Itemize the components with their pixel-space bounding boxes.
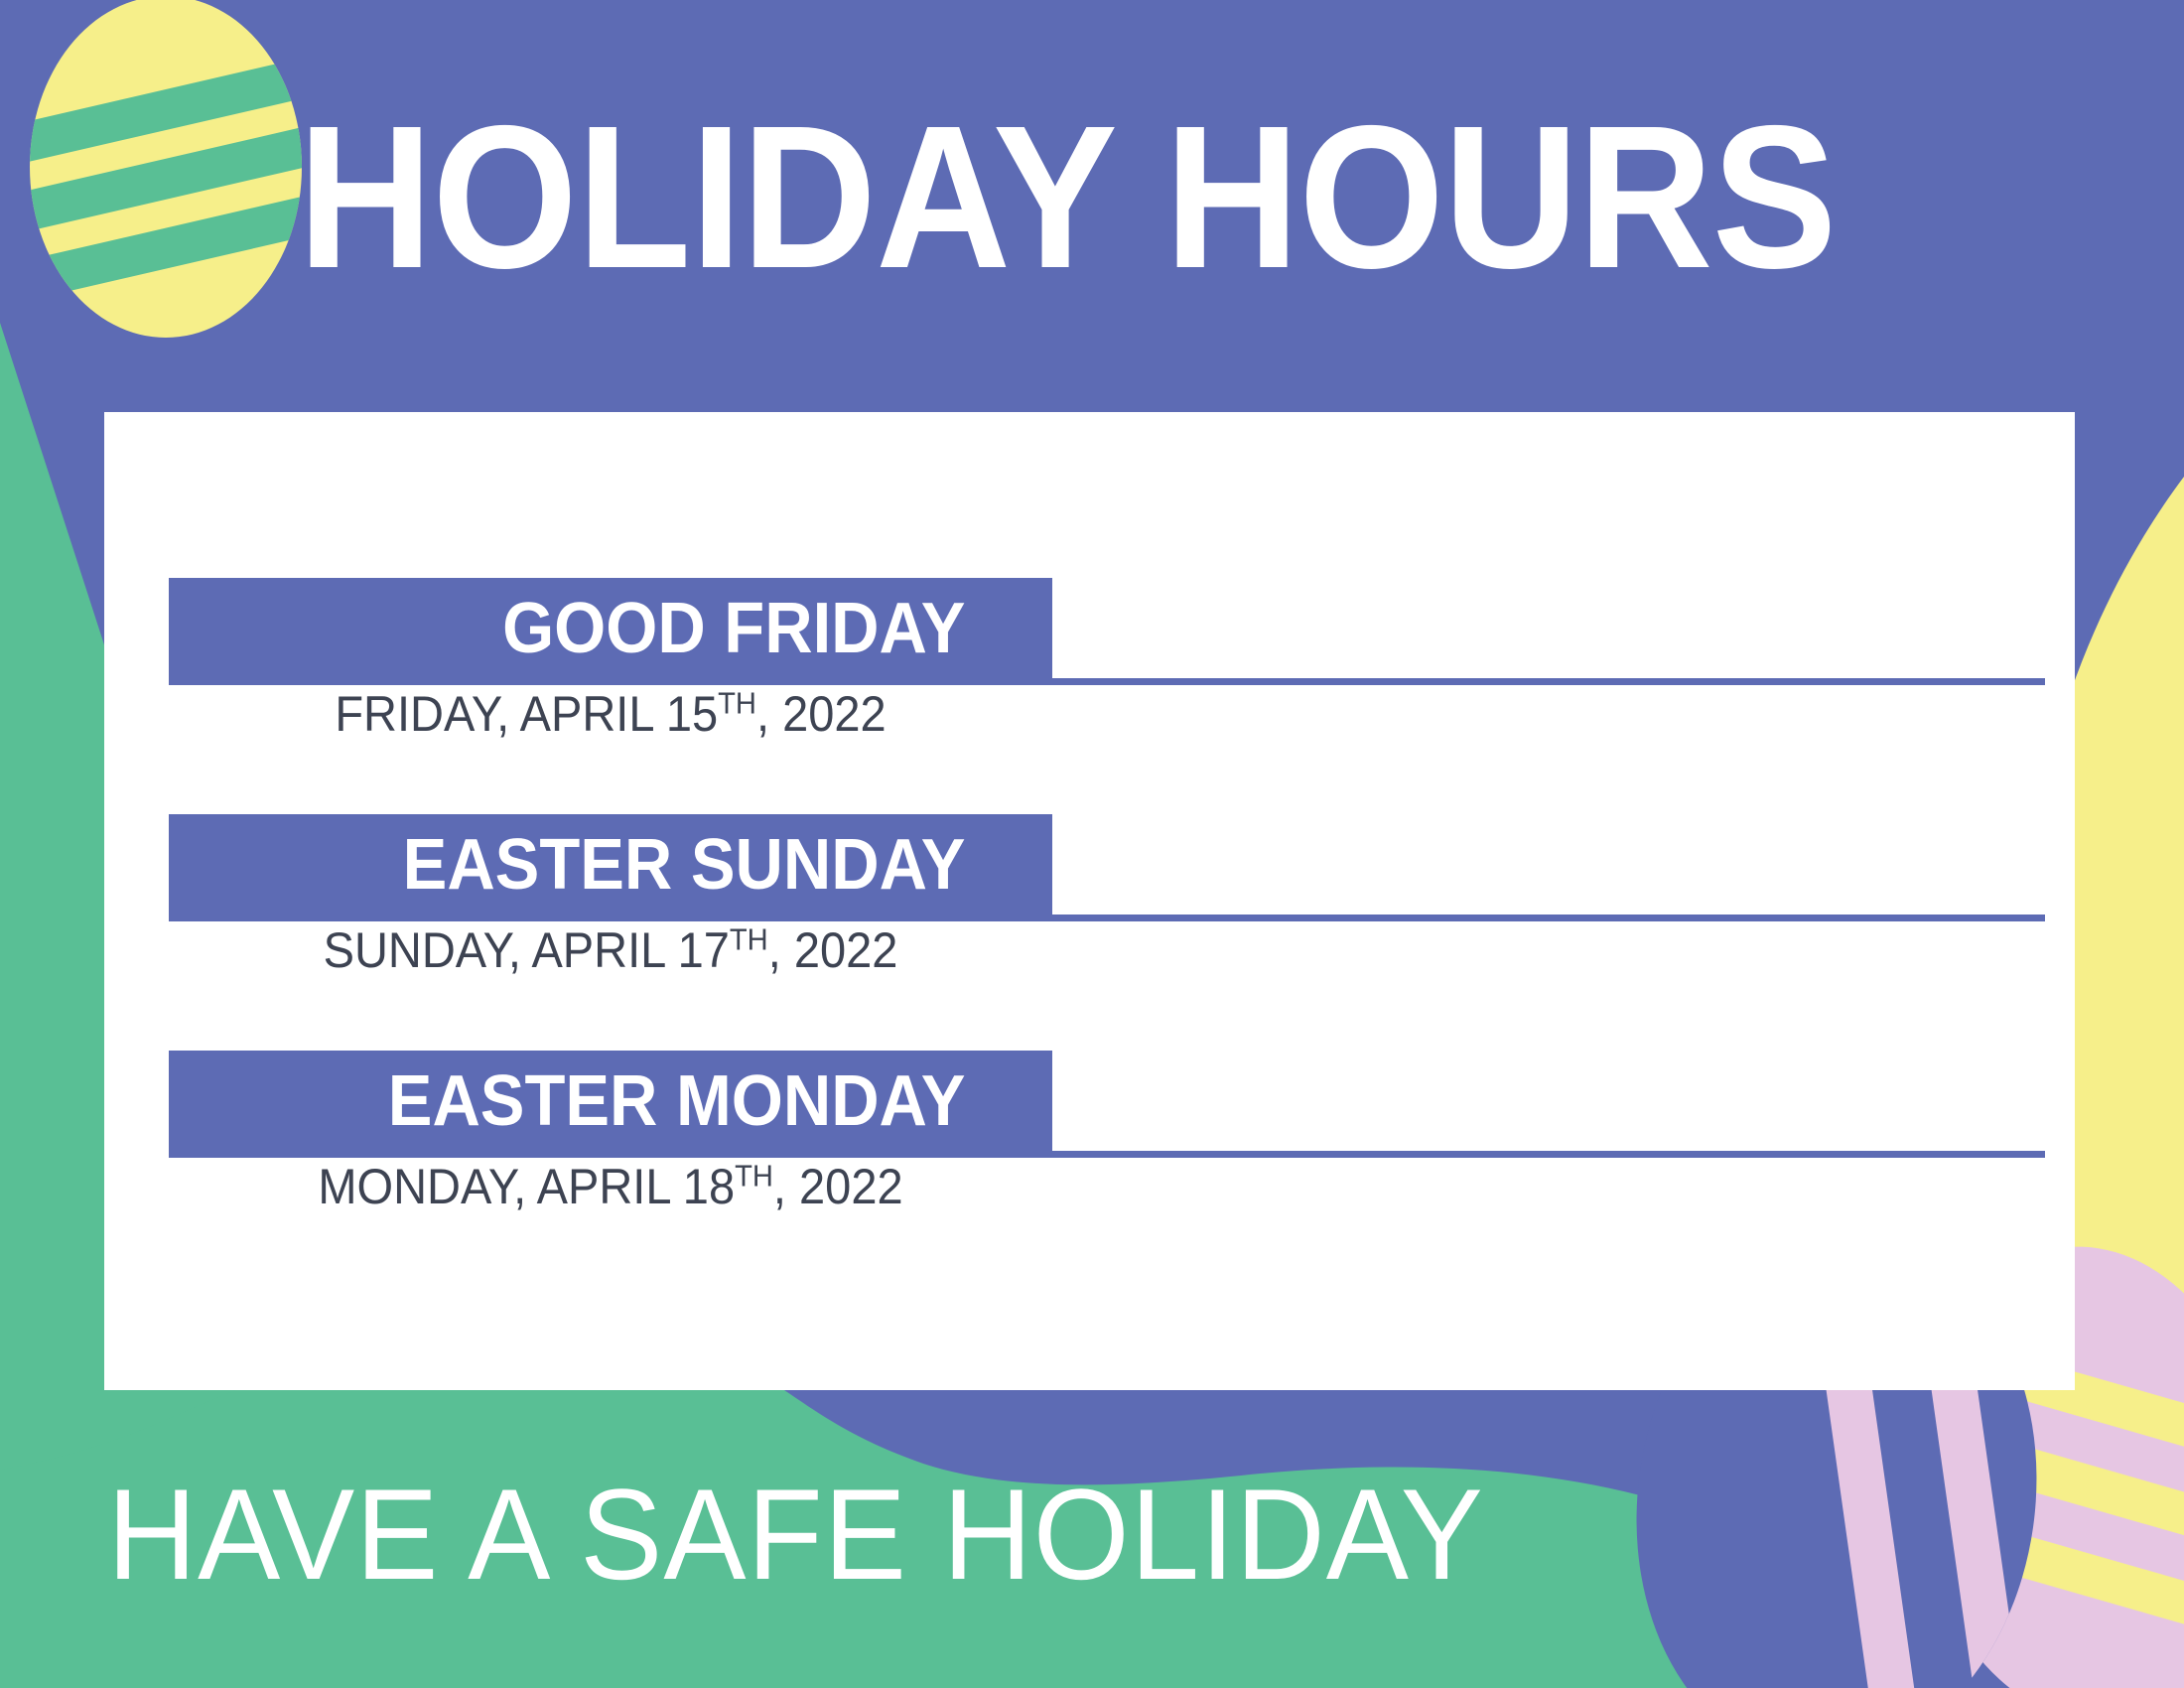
page-title: HOLIDAY HOURS (298, 104, 1850, 292)
footer-message: HAVE A SAFE HOLIDAY (107, 1470, 1484, 1599)
holiday-name-bar: EASTER SUNDAY (169, 814, 1052, 915)
holiday-name-label: EASTER MONDAY (387, 1065, 965, 1137)
holiday-date-ordinal: TH (718, 685, 756, 720)
holiday-list: GOOD FRIDAY FRIDAY, APRIL 15TH, 2022 EAS… (104, 412, 2075, 1390)
holiday-name-bar: GOOD FRIDAY (169, 578, 1052, 679)
holiday-date-year: , 2022 (768, 922, 898, 978)
holiday-date-weekday: FRIDAY, APRIL 15 (335, 686, 718, 742)
holiday-hours-poster: HOLIDAY HOURS GOOD FRIDAY FRIDAY, APRIL … (0, 0, 2184, 1688)
holiday-date-ordinal: TH (730, 921, 768, 956)
holiday-date: SUNDAY, APRIL 17TH, 2022 (196, 923, 1026, 978)
holiday-date-year: , 2022 (773, 1159, 903, 1214)
holiday-date: FRIDAY, APRIL 15TH, 2022 (196, 687, 1026, 742)
holiday-date-weekday: MONDAY, APRIL 18 (318, 1159, 735, 1214)
holiday-rule-line (169, 678, 2045, 685)
holiday-name-bar: EASTER MONDAY (169, 1051, 1052, 1152)
holiday-date: MONDAY, APRIL 18TH, 2022 (196, 1160, 1026, 1214)
holiday-name-label: GOOD FRIDAY (502, 593, 965, 664)
holiday-name-label: EASTER SUNDAY (402, 829, 965, 901)
holiday-date-year: , 2022 (756, 686, 887, 742)
holiday-rule-line (169, 1151, 2045, 1158)
holiday-rule-line (169, 914, 2045, 921)
holiday-date-ordinal: TH (735, 1158, 773, 1193)
holiday-date-weekday: SUNDAY, APRIL 17 (324, 922, 730, 978)
